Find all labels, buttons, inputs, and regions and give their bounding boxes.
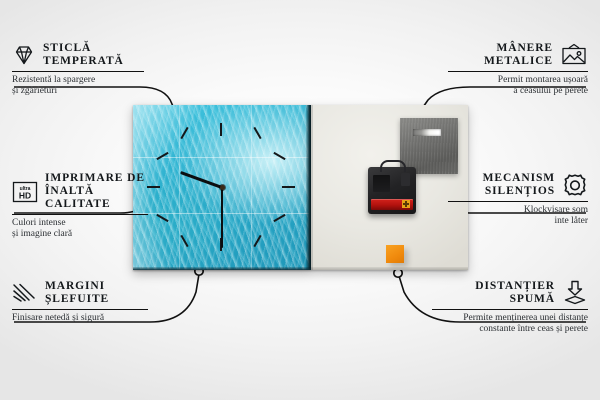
callout-title-line2: ȘLEFUITE	[45, 293, 109, 306]
callout-title-line2: SPUMĂ	[475, 293, 555, 306]
clock-minute-hand	[221, 188, 223, 248]
callout-subtitle-line1: Permite menținerea unei distanțe	[432, 313, 588, 324]
movement-hanger-loop	[380, 160, 406, 172]
clock-marker	[220, 123, 222, 136]
svg-text:HD: HD	[19, 190, 31, 200]
movement-battery	[371, 199, 413, 210]
battery-plus-marker	[402, 200, 410, 208]
clock-front-panel	[133, 105, 311, 270]
callout-title-line1: IMPRIMARE DE	[45, 172, 148, 185]
callout-subtitle-line2: a ceasului pe perete	[448, 86, 588, 97]
callout-subtitle-line2: constante între ceas și perete	[432, 324, 588, 335]
infographic-stage: STICLĂ TEMPERATĂ Rezistentă la spargere …	[0, 0, 600, 400]
clock-hour-hand	[180, 171, 222, 189]
ultra-hd-badge-icon: ultra HD	[12, 180, 38, 204]
callout-title-line1: MECANISM	[483, 172, 555, 185]
callout-divider	[12, 71, 144, 72]
callout-title-line1: MÂNERE	[484, 42, 553, 55]
clock-marker	[273, 152, 285, 160]
callout-title-line1: STICLĂ	[43, 42, 124, 55]
clock-marker	[253, 235, 261, 247]
callout-imprimare-calitate: ultra HD IMPRIMARE DE ÎNALTĂ CALITATE Cu…	[12, 172, 148, 240]
callout-subtitle-line1: Klockvisare som	[448, 205, 588, 216]
clock-marker	[156, 214, 168, 222]
callout-subtitle-line1: Permit montarea ușoară	[448, 75, 588, 86]
clock-marker	[180, 127, 188, 139]
callout-divider	[12, 214, 148, 215]
callout-title-line2: METALICE	[484, 55, 553, 68]
clock-marker	[282, 186, 295, 188]
callout-distantier-spuma: DISTANȚIER SPUMĂ Permite menținerea unei…	[432, 280, 588, 335]
diamond-icon	[12, 44, 36, 66]
clock-center-hub	[220, 185, 225, 190]
quartz-movement	[368, 167, 416, 214]
clock-marker	[273, 214, 285, 222]
callout-divider	[448, 71, 588, 72]
callout-divider	[432, 309, 588, 310]
callout-subtitle-line2: inte låter	[448, 216, 588, 227]
wall-frame-hanger-icon	[560, 43, 588, 67]
callout-subtitle-line2: și zgârieturi	[12, 86, 144, 97]
callout-subtitle-line1: Rezistentă la spargere	[12, 75, 144, 86]
clock-back-panel	[311, 105, 468, 270]
clock-marker	[147, 186, 160, 188]
callout-title-line1: MARGINI	[45, 280, 109, 293]
foam-spacer	[386, 245, 404, 263]
arrow-down-layers-icon	[562, 280, 588, 306]
callout-divider	[448, 201, 588, 202]
metal-hanger-plate	[400, 118, 458, 174]
callout-title-line1: DISTANȚIER	[475, 280, 555, 293]
polished-edge-lines-icon	[12, 282, 38, 304]
clock-marker	[156, 152, 168, 160]
gear-icon	[562, 173, 588, 198]
callout-subtitle-line2: și imagine clară	[12, 229, 148, 240]
callout-title-line2: TEMPERATĂ	[43, 55, 124, 68]
callout-margini-slefuite: MARGINI ȘLEFUITE Finisare netedă și sigu…	[12, 280, 148, 324]
hanger-slot	[413, 129, 441, 136]
wire-dot-distantier	[394, 269, 402, 277]
clock-marker	[180, 235, 188, 247]
callout-divider	[12, 309, 148, 310]
callout-subtitle-line1: Finisare netedă și sigură	[12, 313, 148, 324]
callout-title-line2: SILENȚIOS	[483, 185, 555, 198]
clock-marker	[253, 127, 261, 139]
callout-title-line2: ÎNALTĂ CALITATE	[45, 185, 148, 211]
callout-manere-metalice: MÂNERE METALICE Permit montarea ușoară a…	[448, 42, 588, 97]
callout-sticla-temperata: STICLĂ TEMPERATĂ Rezistentă la spargere …	[12, 42, 144, 97]
callout-mecanism-silentios: MECANISM SILENȚIOS Klockvisare som inte …	[448, 172, 588, 227]
callout-subtitle-line1: Culori intense	[12, 218, 148, 229]
